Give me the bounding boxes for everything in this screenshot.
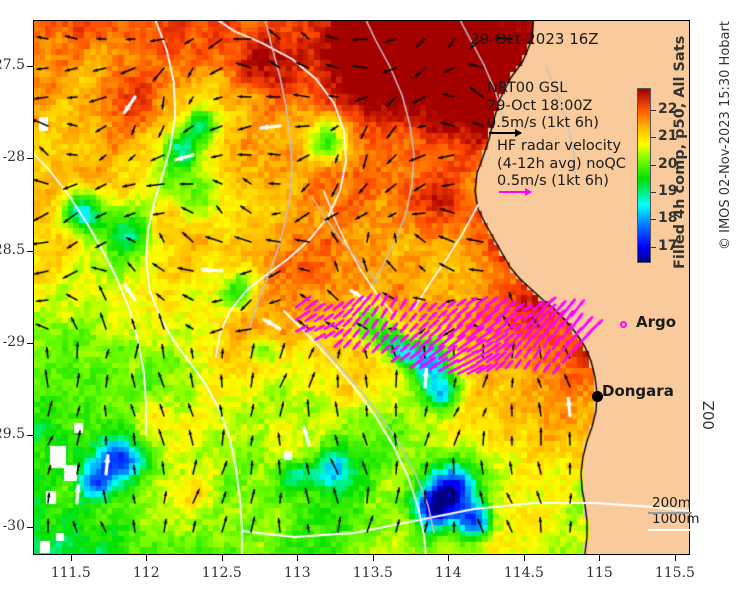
x-tick-label: 114 bbox=[418, 565, 478, 581]
y-tick-label: -29 bbox=[0, 334, 25, 350]
model-legend-text: NRT00 GSL 29-Oct 18:00Z 0.5m/s (1kt 6h) bbox=[487, 80, 599, 133]
y-tick bbox=[27, 435, 33, 436]
x-tick bbox=[448, 555, 449, 561]
x-tick bbox=[675, 555, 676, 561]
y-tick bbox=[27, 66, 33, 67]
x-tick bbox=[599, 555, 600, 561]
x-tick-label: 113 bbox=[267, 565, 327, 581]
x-tick-label: 111.5 bbox=[41, 565, 101, 581]
bathymetry-scale-label: 200m 1000m bbox=[652, 495, 700, 527]
title-date-label: 29-Oct-2023 16Z bbox=[470, 30, 599, 48]
y-tick bbox=[27, 343, 33, 344]
colorbar-tick bbox=[651, 219, 656, 220]
colorbar-tick bbox=[651, 247, 656, 248]
x-tick bbox=[297, 555, 298, 561]
radar-reference-arrow-icon bbox=[499, 191, 531, 193]
colorbar-tick bbox=[651, 165, 656, 166]
model-reference-arrow-icon bbox=[489, 132, 521, 134]
x-tick bbox=[524, 555, 525, 561]
bathymetry-200m-rule bbox=[648, 512, 692, 514]
colorbar-tick bbox=[651, 110, 656, 111]
dongara-label: Dongara bbox=[602, 382, 674, 400]
sst-map-figure: 111.5112112.5113113.5114114.5115115.5 -2… bbox=[0, 0, 740, 592]
colorbar-tick bbox=[651, 137, 656, 138]
colorbar bbox=[637, 88, 651, 263]
x-tick bbox=[373, 555, 374, 561]
y-tick bbox=[27, 158, 33, 159]
argo-label: Argo bbox=[636, 313, 676, 331]
y-tick-label: -30 bbox=[0, 518, 25, 534]
x-tick-label: 113.5 bbox=[343, 565, 403, 581]
bathymetry-1000m-rule bbox=[648, 529, 692, 531]
x-tick-label: 115 bbox=[569, 565, 629, 581]
x-tick bbox=[71, 555, 72, 561]
y-tick-label: -27.5 bbox=[0, 57, 25, 73]
radar-legend-text: HF radar velocity (4-12h avg) noQC 0.5m/… bbox=[497, 138, 626, 191]
edge-clipped-label: 00Z bbox=[700, 401, 718, 430]
x-tick bbox=[222, 555, 223, 561]
y-tick-label: -28.5 bbox=[0, 242, 25, 258]
argo-marker-icon bbox=[620, 321, 627, 328]
x-tick-label: 115.5 bbox=[645, 565, 705, 581]
colorbar-tick bbox=[651, 192, 656, 193]
y-tick bbox=[27, 251, 33, 252]
y-tick-label: -28 bbox=[0, 149, 25, 165]
x-tick bbox=[146, 555, 147, 561]
y-tick-label: -29.5 bbox=[0, 426, 25, 442]
x-tick-label: 112.5 bbox=[192, 565, 252, 581]
credit-text: © IMOS 02-Nov-2023 15:30 Hobart bbox=[718, 21, 733, 250]
x-tick-label: 114.5 bbox=[494, 565, 554, 581]
x-tick-label: 112 bbox=[116, 565, 176, 581]
y-tick bbox=[27, 527, 33, 528]
